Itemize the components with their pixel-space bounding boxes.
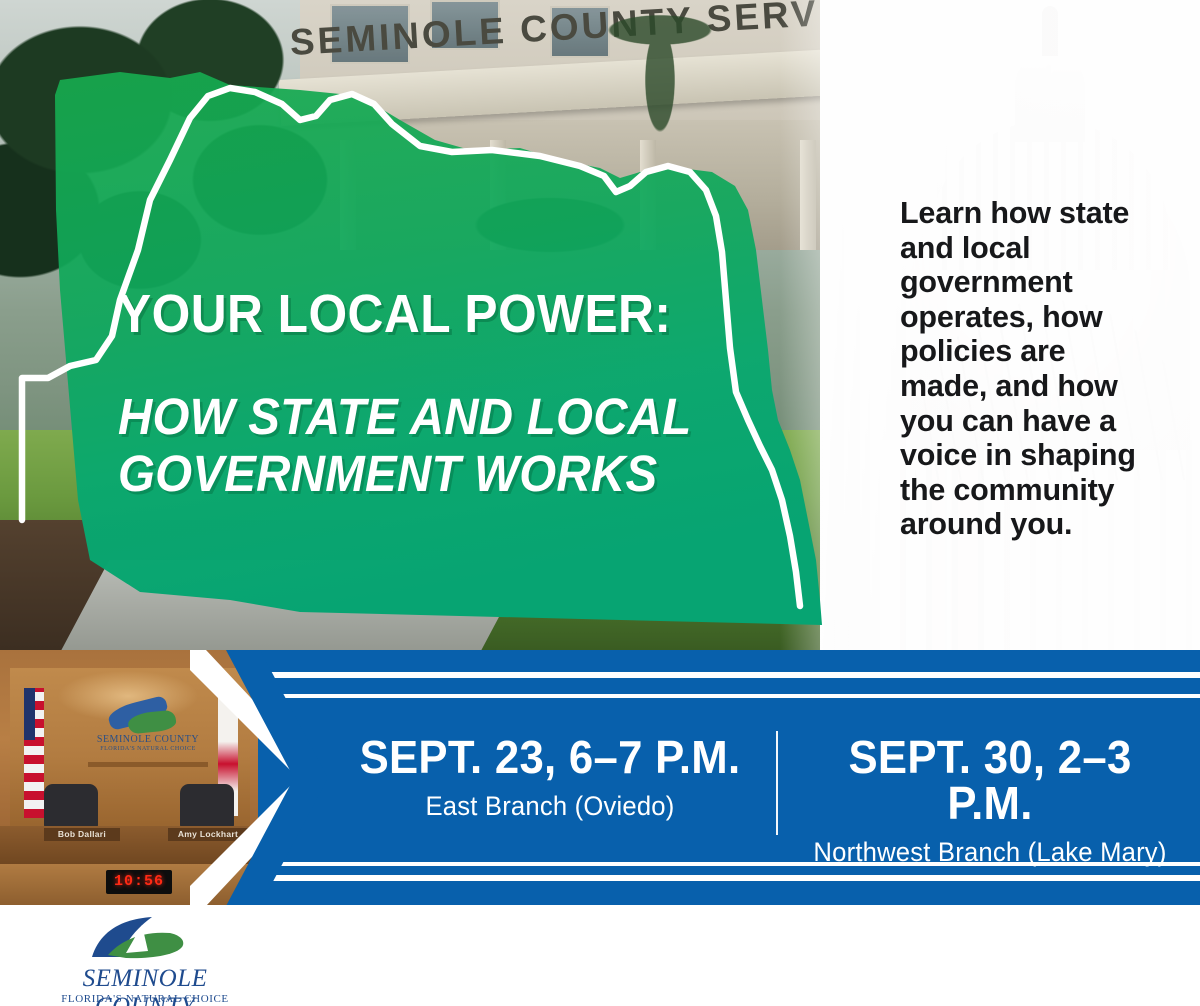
subtitle-line-2: GOVERNMENT WORKS [118,445,750,502]
event-block-1: SEPT. 23, 6–7 P.M. East Branch (Oviedo) [340,734,760,822]
seminole-county-logo: SEMINOLE COUNTY FLORIDA'S NATURAL CHOICE [30,913,260,1005]
description-text: Learn how state and local government ope… [900,196,1150,542]
event-2-date: SEPT. 30, 2–3 P.M. [800,734,1180,826]
event-block-2: SEPT. 30, 2–3 P.M. Northwest Branch (Lak… [790,734,1190,868]
chamber-led-clock: 10:56 [106,870,172,894]
chamber-chair [44,784,98,828]
chevron-divider-icon [190,650,330,906]
page-subtitle: HOW STATE AND LOCAL GOVERNMENT WORKS [118,388,750,502]
nameplate-left: Bob Dallari [44,828,120,841]
hero-section: SEMINOLE COUNTY SERVICES BUILDING [0,0,1200,650]
subtitle-line-1: HOW STATE AND LOCAL [118,388,750,445]
seminole-county-mark-icon [30,913,260,967]
us-flag [24,688,44,818]
footer-section: SEMINOLE COUNTY FLORIDA'S NATURAL CHOICE… [0,905,1200,1006]
event-divider [776,731,778,835]
flyer-root: SEMINOLE COUNTY SERVICES BUILDING [0,0,1200,1006]
page-title: YOUR LOCAL POWER: [118,287,707,342]
seminole-county-logo-tagline: FLORIDA'S NATURAL CHOICE [30,993,260,1005]
event-2-location: Northwest Branch (Lake Mary) [800,837,1180,868]
event-1-date: SEPT. 23, 6–7 P.M. [351,734,750,780]
banner-rule-top [258,694,1200,698]
event-1-location: East Branch (Oviedo) [351,791,750,822]
